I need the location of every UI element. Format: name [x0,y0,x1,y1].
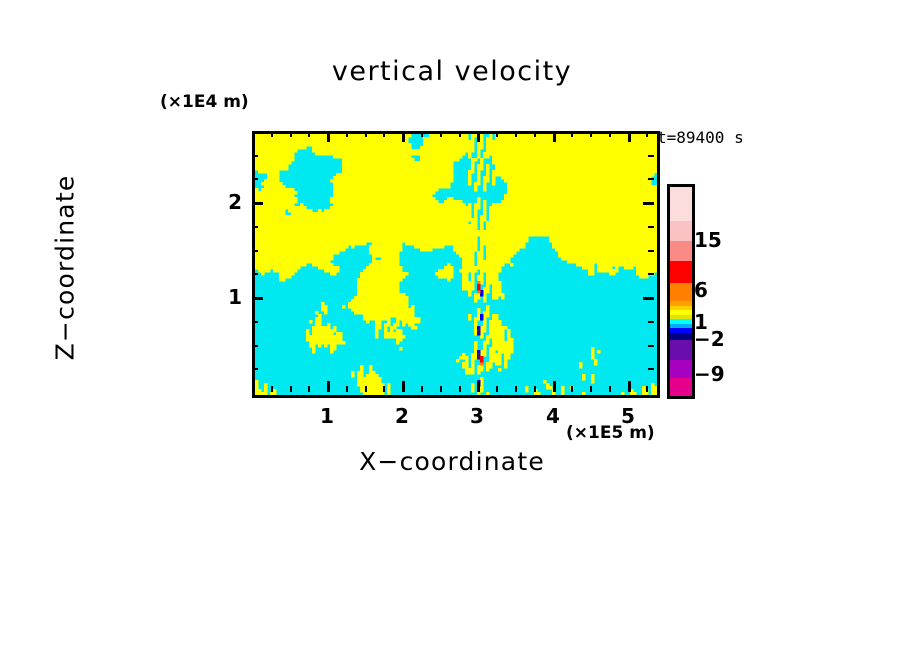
colorbar-tick-label: −9 [694,362,725,386]
y-minor-tick [252,321,258,323]
x-minor-tick-top [308,131,310,137]
x-tick-label: 2 [382,404,422,428]
x-minor-tick [346,386,348,392]
colorbar-band [670,283,692,301]
x-major-tick [477,381,480,392]
x-minor-tick-top [459,131,461,137]
y-minor-tick-right [648,368,654,370]
x-minor-tick [646,386,648,392]
y-minor-tick [252,345,258,347]
colorbar-band [670,241,692,261]
colorbar-band [670,340,692,360]
x-minor-tick [459,386,461,392]
x-minor-tick [290,386,292,392]
x-minor-tick [515,386,517,392]
colorbar[interactable] [667,184,695,399]
y-major-tick-right [643,297,654,300]
y-minor-tick-right [648,321,654,323]
x-minor-tick-top [646,131,648,137]
x-major-tick-top [553,131,556,142]
time-annotation: t=89400 s [657,128,744,147]
x-major-tick [327,381,330,392]
y-minor-tick [252,368,258,370]
x-minor-tick [383,386,385,392]
x-minor-tick [571,386,573,392]
colorbar-band [670,360,692,378]
x-minor-tick [365,386,367,392]
x-minor-tick [421,386,423,392]
x-tick-label: 3 [457,404,497,428]
vertical-velocity-field [255,134,657,395]
y-minor-tick [252,226,258,228]
x-minor-tick-top [609,131,611,137]
colorbar-tick-label: 15 [694,228,722,252]
x-minor-tick-top [496,131,498,137]
y-minor-tick-right [648,250,654,252]
x-major-tick [628,381,631,392]
x-major-tick-top [477,131,480,142]
y-tick-label: 2 [202,190,242,214]
x-minor-tick [496,386,498,392]
y-minor-tick-right [648,226,654,228]
chart-title: vertical velocity [0,56,904,87]
x-minor-tick-top [515,131,517,137]
x-minor-tick-top [271,131,273,137]
figure-root: vertical velocity (×1E4 m) t=89400 s 123… [0,0,904,654]
x-minor-tick-top [590,131,592,137]
x-axis-label: X−coordinate [0,447,904,476]
x-minor-tick-top [421,131,423,137]
y-tick-label: 1 [202,285,242,309]
x-minor-tick [534,386,536,392]
y-minor-tick [252,273,258,275]
colorbar-band [670,261,692,283]
x-tick-label: 1 [307,404,347,428]
y-minor-tick-right [648,345,654,347]
y-major-tick [252,202,263,205]
x-minor-tick-top [346,131,348,137]
colorbar-band [670,187,692,221]
colorbar-tick-label: −2 [694,327,725,351]
colorbar-tick-label: 6 [694,278,708,302]
x-major-tick [553,381,556,392]
y-axis-label: Z−coordinate [51,118,80,418]
y-axis-unit-label: (×1E4 m) [160,92,249,112]
x-minor-tick-top [571,131,573,137]
x-minor-tick [590,386,592,392]
colorbar-band [670,333,692,340]
colorbar-band [670,378,692,396]
y-major-tick [252,297,263,300]
x-minor-tick [271,386,273,392]
x-major-tick [402,381,405,392]
y-minor-tick [252,250,258,252]
x-minor-tick-top [534,131,536,137]
x-major-tick-top [628,131,631,142]
y-minor-tick [252,155,258,157]
x-major-tick-top [402,131,405,142]
x-minor-tick-top [365,131,367,137]
x-minor-tick-top [440,131,442,137]
x-minor-tick [609,386,611,392]
x-minor-tick-top [290,131,292,137]
x-axis-unit-label: (×1E5 m) [566,423,655,443]
y-major-tick-right [643,202,654,205]
x-minor-tick [440,386,442,392]
contour-plot-area[interactable] [252,131,660,398]
y-minor-tick [252,178,258,180]
colorbar-band [670,221,692,241]
x-major-tick-top [327,131,330,142]
y-minor-tick-right [648,273,654,275]
y-minor-tick-right [648,155,654,157]
x-minor-tick [308,386,310,392]
y-minor-tick-right [648,178,654,180]
x-minor-tick-top [383,131,385,137]
